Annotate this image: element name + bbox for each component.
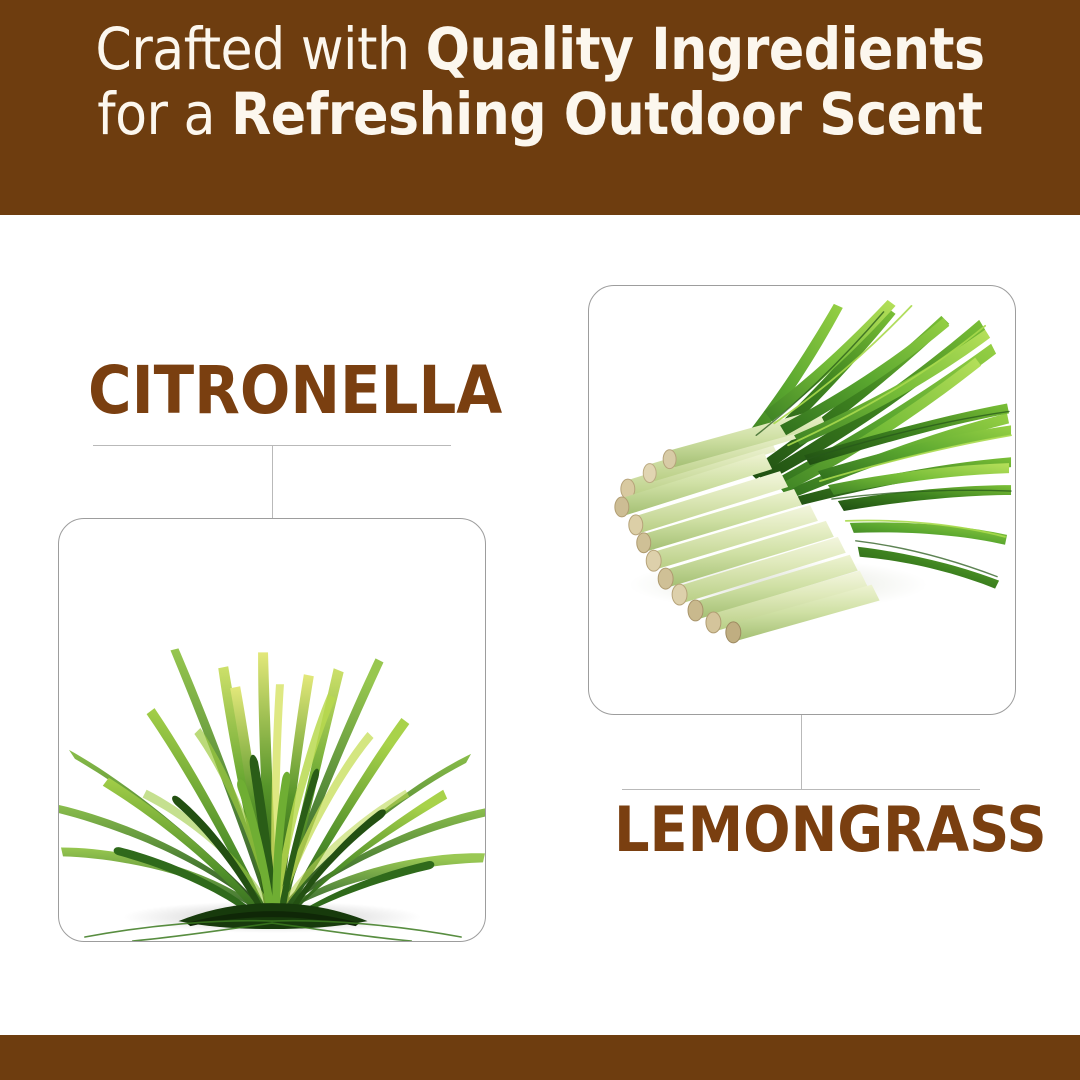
headline-line-2-bold: Refreshing Outdoor Scent (231, 80, 983, 148)
headline: Crafted with Quality Ingredients for a R… (0, 20, 1080, 144)
infographic-canvas: Crafted with Quality Ingredients for a R… (0, 0, 1080, 1080)
lemongrass-label: LEMONGRASS (614, 793, 1047, 866)
headline-line-1-light: Crafted with (95, 15, 425, 83)
citronella-label: CITRONELLA (88, 352, 502, 429)
citronella-grass-illustration (59, 519, 485, 941)
citronella-connector-line (272, 445, 273, 519)
lemongrass-connector-line (801, 715, 802, 790)
lemongrass-overline (622, 789, 980, 790)
headline-line-2: for a Refreshing Outdoor Scent (0, 85, 1080, 144)
headline-line-1: Crafted with Quality Ingredients (0, 20, 1080, 79)
citronella-image-frame (58, 518, 486, 942)
lemongrass-image-frame (588, 285, 1016, 715)
headline-line-1-bold: Quality Ingredients (426, 15, 985, 83)
lemongrass-bundle-illustration (589, 286, 1015, 714)
header-band: Crafted with Quality Ingredients for a R… (0, 0, 1080, 215)
headline-line-2-light: for a (97, 80, 231, 148)
footer-band (0, 1035, 1080, 1080)
